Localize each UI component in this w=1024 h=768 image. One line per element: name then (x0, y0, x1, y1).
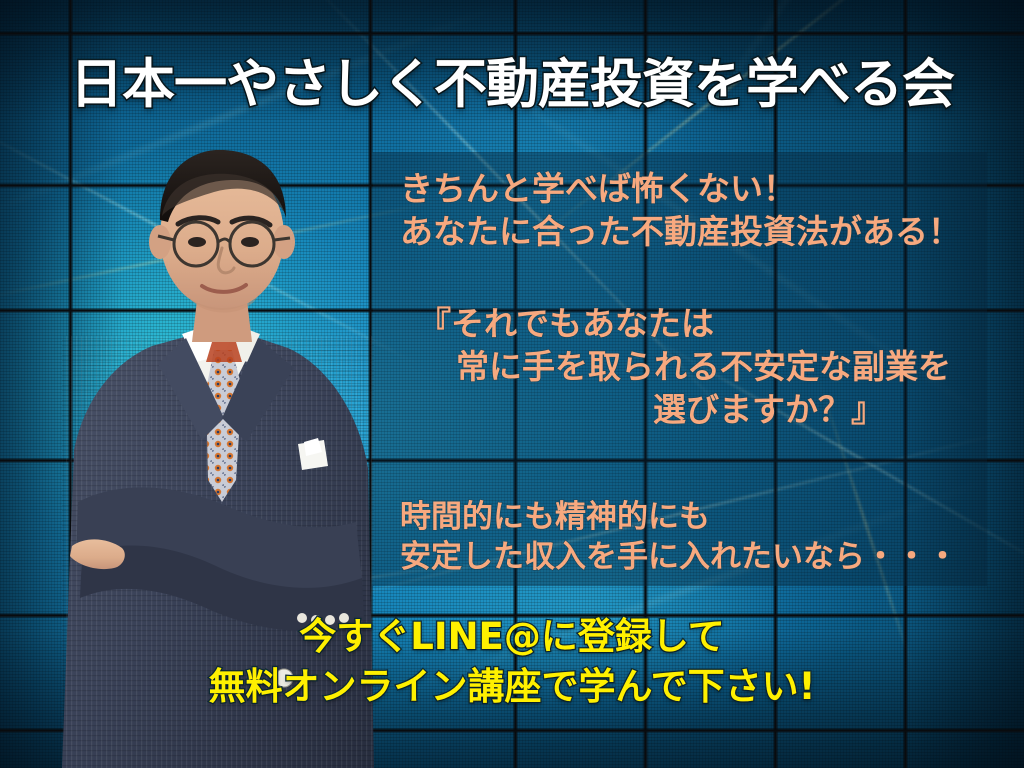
cta-line: 今すぐLINE@に登録して (0, 612, 1024, 662)
copy-line: 常に手を取られる不安定な副業を (418, 346, 951, 389)
page-title: 日本一やさしく不動産投資を学べる会 (0, 58, 1024, 111)
copy-block-benefit: きちんと学べば怖くない！ あなたに合った不動産投資法がある！ (400, 168, 961, 254)
copy-line: 安定した収入を手に入れたいなら・・・ (400, 537, 958, 577)
copy-line: 選びますか？』 (418, 389, 951, 432)
eye (188, 237, 206, 247)
cta-line: 無料オンライン講座で学んで下さい! (0, 662, 1024, 712)
copy-line: あなたに合った不動産投資法がある！ (400, 211, 961, 254)
copy-line: きちんと学べば怖くない！ (400, 168, 961, 211)
hero-banner: 日本一やさしく不動産投資を学べる会 きちんと学べば怖くない！ あなたに合った不動… (0, 0, 1024, 768)
copy-block-desire: 時間的にも精神的にも 安定した収入を手に入れたいなら・・・ (400, 497, 958, 578)
cta-message[interactable]: 今すぐLINE@に登録して 無料オンライン講座で学んで下さい! (0, 612, 1024, 712)
necktie-knot (206, 342, 242, 362)
ear (149, 225, 171, 259)
eye (241, 237, 259, 247)
copy-line: 時間的にも精神的にも (400, 497, 958, 537)
ear (273, 225, 295, 259)
copy-line: 『それでもあなたは (418, 303, 951, 346)
copy-block-question: 『それでもあなたは 常に手を取られる不安定な副業を 選びますか？』 (418, 303, 951, 432)
